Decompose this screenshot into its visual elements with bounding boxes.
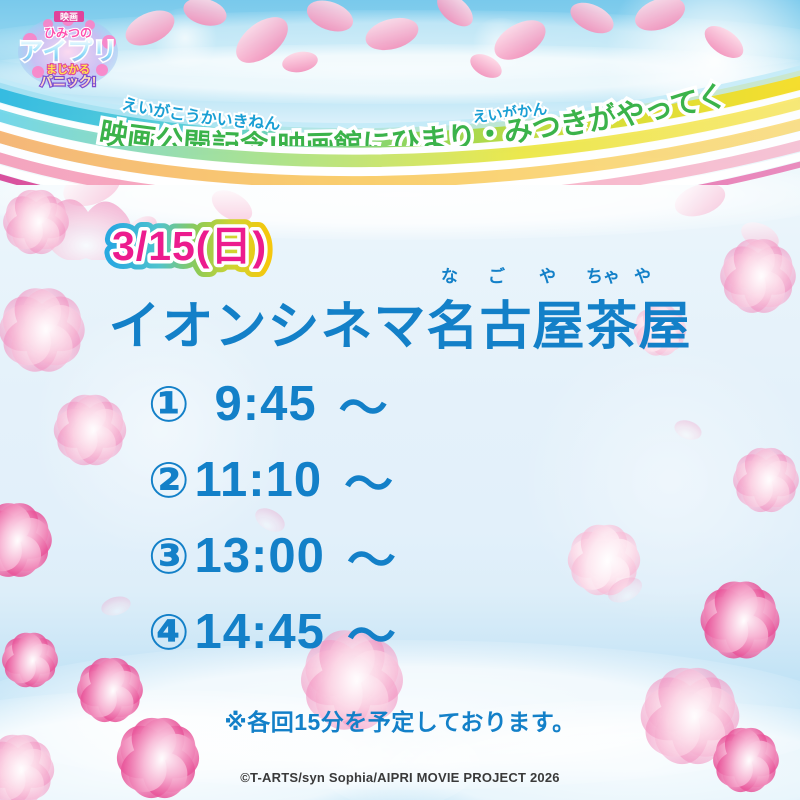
copyright-notice: ©T-ARTS/syn Sophia/AIPRI MOVIE PROJECT 2… [0, 770, 800, 785]
banner-text: 映画公開記念!映画館にひまり・みつきがやってくる! [0, 76, 728, 146]
showtime-index: ② [148, 452, 191, 509]
showtime-row: ④ 14:45 ～ [148, 594, 668, 670]
showtime-index: ③ [148, 528, 191, 585]
showtime-tilde: ～ [347, 597, 397, 668]
showtime-tilde: ～ [347, 521, 397, 592]
showtime-index: ① [148, 376, 191, 433]
showtime-tilde: ～ [344, 445, 394, 516]
banner-headline: えいがこうかいきねん えいがかん 映画公開記念!映画館にひまり・みつきがやってく… [0, 76, 800, 146]
showtime-row: ③ 13:00 ～ [148, 518, 668, 594]
showtime-time: 9:45 [215, 376, 317, 432]
logo-line2: アイプリ [19, 38, 118, 66]
showtimes-list: ① 9:45 ～ ② 11:10 ～ ③ 13:00 ～ ④ 14:45 ～ [148, 366, 668, 670]
poster-canvas: 映画 ひみつの アイプリ まじかる パニック! えいがこうかいきねん えいがかん… [0, 0, 800, 800]
showtime-time: 13:00 [195, 528, 325, 584]
showtime-row: ② 11:10 ～ [148, 442, 668, 518]
venue-name: イオンシネマ名古屋茶屋 [0, 284, 800, 359]
logo-eiga-label: 映画 [60, 11, 78, 22]
showtime-time: 11:10 [195, 452, 323, 508]
showtime-time: 14:45 [195, 604, 325, 660]
showtime-tilde: ～ [339, 369, 389, 440]
showtime-row: ① 9:45 ～ [148, 366, 668, 442]
duration-note: ※各回15分を予定しております。 [0, 703, 800, 737]
showtime-index: ④ [148, 604, 191, 661]
